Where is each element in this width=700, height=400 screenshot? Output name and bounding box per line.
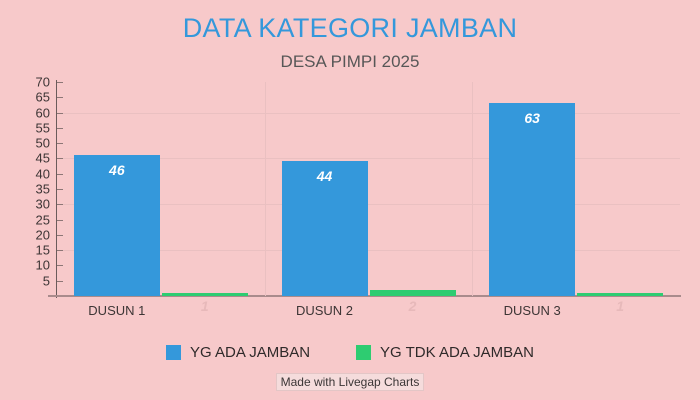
- y-axis-tick-mark: [57, 220, 63, 221]
- bar-value-label: 2: [409, 298, 417, 314]
- y-axis-tick-label: 70: [10, 76, 50, 89]
- y-axis-tick-mark: [57, 204, 63, 205]
- y-axis-tick-label: 5: [10, 274, 50, 287]
- y-axis-tick-mark: [57, 143, 63, 144]
- bar-value-label: 44: [317, 168, 333, 184]
- chart-container: DATA KATEGORI JAMBAN DESA PIMPI 2025 706…: [0, 0, 700, 400]
- y-axis-tick-label: 45: [10, 152, 50, 165]
- bar-value-label: 1: [201, 298, 209, 314]
- bar-value-label: 46: [109, 162, 125, 178]
- y-axis-tick-mark: [57, 235, 63, 236]
- chart-legend: YG ADA JAMBANYG TDK ADA JAMBAN: [0, 344, 700, 361]
- y-axis-tick-label: 50: [10, 137, 50, 150]
- legend-swatch-icon: [166, 345, 181, 360]
- watermark-text: Made with Livegap Charts: [276, 373, 425, 391]
- bar-tdk-ada-jamban[interactable]: [162, 293, 248, 296]
- y-axis-tick-label: 20: [10, 228, 50, 241]
- y-axis-tick-mark: [57, 97, 63, 98]
- bar-value-label: 63: [524, 110, 540, 126]
- y-axis-tick-label: 25: [10, 213, 50, 226]
- y-axis-tick-label: 35: [10, 183, 50, 196]
- chart-subtitle: DESA PIMPI 2025: [0, 52, 700, 72]
- y-axis-tick-mark: [57, 128, 63, 129]
- y-axis-tick-label: 65: [10, 91, 50, 104]
- x-axis-category-label: DUSUN 1: [88, 303, 145, 318]
- y-axis-tick-label: 55: [10, 121, 50, 134]
- y-axis-tick-labels: 706560555045403530252015105: [0, 0, 50, 400]
- legend-label: YG TDK ADA JAMBAN: [380, 344, 534, 361]
- horizontal-gridline: [57, 113, 680, 114]
- x-axis-category-label: DUSUN 3: [504, 303, 561, 318]
- y-axis-tick-mark: [57, 265, 63, 266]
- bar-ada-jamban[interactable]: [489, 103, 575, 296]
- y-axis-tick-label: 40: [10, 167, 50, 180]
- bar-tdk-ada-jamban[interactable]: [577, 293, 663, 296]
- y-axis-tick-mark: [57, 250, 63, 251]
- x-axis-category-label: DUSUN 2: [296, 303, 353, 318]
- legend-swatch-icon: [356, 345, 371, 360]
- legend-item[interactable]: YG TDK ADA JAMBAN: [356, 344, 534, 361]
- y-axis-tick-mark: [57, 174, 63, 175]
- y-axis-tick-label: 15: [10, 244, 50, 257]
- legend-item[interactable]: YG ADA JAMBAN: [166, 344, 310, 361]
- y-axis-tick-label: 60: [10, 106, 50, 119]
- legend-label: YG ADA JAMBAN: [190, 344, 310, 361]
- bar-value-label: 1: [616, 298, 624, 314]
- y-axis-tick-mark: [57, 158, 63, 159]
- y-axis-tick-mark: [57, 189, 63, 190]
- watermark: Made with Livegap Charts: [0, 373, 700, 391]
- y-axis-tick-label: 30: [10, 198, 50, 211]
- vertical-gridline: [265, 82, 266, 296]
- bar-tdk-ada-jamban[interactable]: [370, 290, 456, 296]
- y-axis-tick-mark: [57, 113, 63, 114]
- vertical-gridline: [472, 82, 473, 296]
- y-axis-tick-label: 10: [10, 259, 50, 272]
- chart-title: DATA KATEGORI JAMBAN: [0, 13, 700, 44]
- y-axis-tick-mark: [57, 281, 63, 282]
- y-axis-tick-mark: [57, 82, 63, 83]
